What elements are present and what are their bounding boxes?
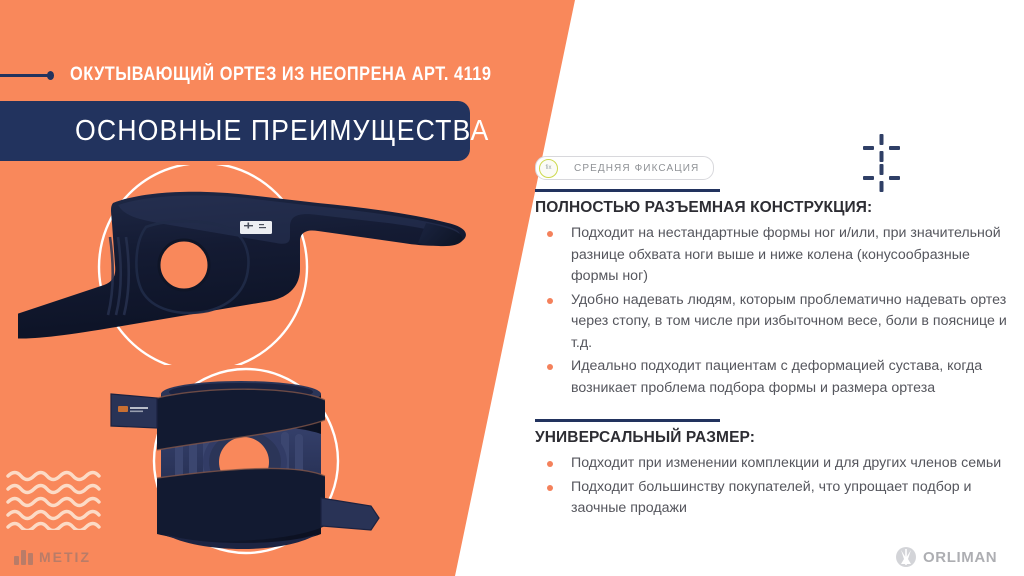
orliman-mark-icon	[895, 546, 917, 568]
kicker-line-decoration	[0, 74, 48, 77]
list-item: Подходит большинству покупателей, что уп…	[535, 477, 1013, 520]
section-divider-2	[535, 419, 720, 422]
list-item-text: Подходит на нестандартные формы ног и/ил…	[571, 225, 1001, 284]
section-heading-construction: ПОЛНОСТЬЮ РАЗЪЕМНАЯ КОНСТРУКЦИЯ:	[535, 199, 1013, 217]
product-image-unfolded-brace	[18, 165, 478, 365]
bullet-dot-icon	[547, 364, 553, 370]
metiz-logo-icon	[14, 550, 33, 565]
benefit-list-construction: Подходит на нестандартные формы ног и/ил…	[535, 223, 1013, 399]
fixation-icon-label: fix	[546, 165, 552, 171]
bullet-dot-icon	[547, 231, 553, 237]
bullet-dot-icon	[547, 485, 553, 491]
content-column: fix СРЕДНЯЯ ФИКСАЦИЯ ПОЛНОСТЬЮ РАЗЪЕМНАЯ…	[535, 156, 1013, 522]
list-item-text: Идеально подходит пациентам с деформацие…	[571, 358, 982, 396]
bullet-dot-icon	[547, 298, 553, 304]
slide-title-bar: ОСНОВНЫЕ ПРЕИМУЩЕСТВА	[0, 101, 470, 161]
benefit-list-universal-size: Подходит при изменении комплекции и для …	[535, 453, 1013, 520]
eyebrow-row: ОКУТЫВАЮЩИЙ ОРТЕЗ ИЗ НЕОПРЕНА АРТ. 4119	[0, 58, 560, 92]
product-image-wrapped-brace	[95, 358, 395, 573]
list-item-text: Подходит при изменении комплекции и для …	[571, 455, 1001, 471]
fixation-level-badge: fix СРЕДНЯЯ ФИКСАЦИЯ	[535, 156, 714, 180]
section-heading-universal-size: УНИВЕРСАЛЬНЫЙ РАЗМЕР:	[535, 429, 1013, 447]
list-item: Идеально подходит пациентам с деформацие…	[535, 356, 1013, 399]
list-item-text: Удобно надевать людям, которым проблемат…	[571, 292, 1007, 351]
list-item: Удобно надевать людям, которым проблемат…	[535, 290, 1013, 355]
metiz-logo-label: METIZ	[39, 549, 91, 565]
list-item: Подходит на нестандартные формы ног и/ил…	[535, 223, 1013, 288]
bullet-dot-icon	[547, 461, 553, 467]
product-eyebrow-title: ОКУТЫВАЮЩИЙ ОРТЕЗ ИЗ НЕОПРЕНА АРТ. 4119	[70, 64, 491, 86]
list-item-text: Подходит большинству покупателей, что уп…	[571, 479, 971, 517]
kicker-dot-decoration	[47, 71, 54, 80]
page-title: ОСНОВНЫЕ ПРЕИМУЩЕСТВА	[75, 115, 489, 148]
fixation-level-label: СРЕДНЯЯ ФИКСАЦИЯ	[574, 163, 699, 174]
slide: METIZ ОКУТЫВАЮЩИЙ ОРТЕЗ ИЗ НЕОПРЕНА АРТ.…	[0, 0, 1024, 576]
orliman-logo-label: ORLIMAN	[923, 549, 997, 566]
fixation-level-icon: fix	[539, 159, 558, 178]
list-item: Подходит при изменении комплекции и для …	[535, 453, 1013, 475]
orliman-logo: ORLIMAN	[895, 546, 997, 568]
section-divider-1	[535, 189, 720, 192]
